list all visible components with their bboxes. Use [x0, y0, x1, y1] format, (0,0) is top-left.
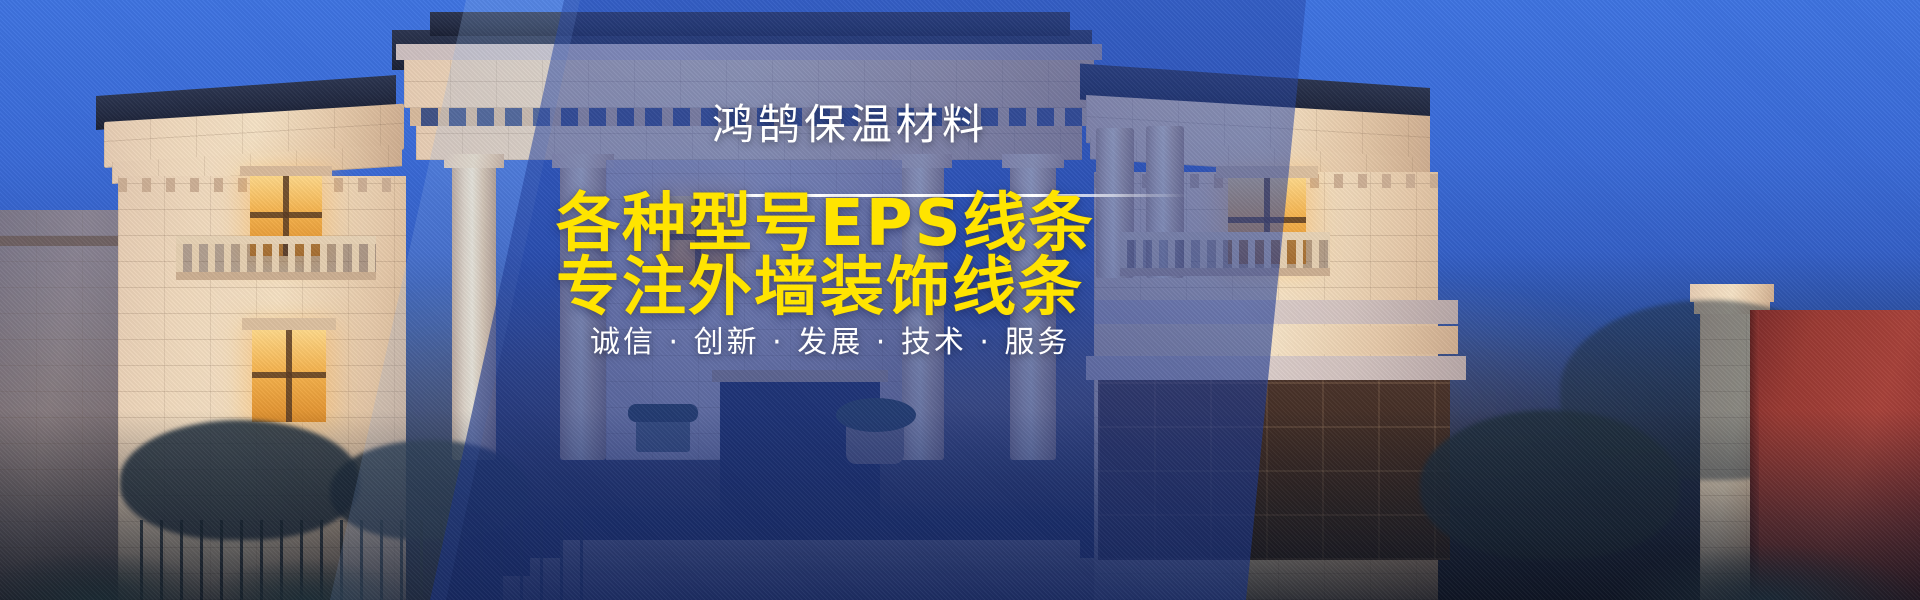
headline-line-2: 专注外墙装饰线条: [556, 256, 1084, 320]
brand-name: 鸿鹄保温材料: [712, 104, 988, 146]
left-far-cornice: [0, 236, 130, 246]
window-left-lower-lintel: [242, 318, 336, 330]
tagline: 诚信 · 创新 · 发展 · 技术 · 服务: [590, 328, 1070, 358]
balcony-rail-base-left: [176, 272, 376, 280]
balcony-rail-top-left: [176, 236, 376, 244]
hero-banner: 鸿鹄保温材料 各种型号EPS线条 专注外墙装饰线条 诚信 · 创新 · 发展 ·…: [0, 0, 1920, 600]
balusters-left: [176, 244, 376, 272]
window-left-upper-lintel: [240, 166, 332, 176]
headline-line-1: 各种型号EPS线条: [556, 192, 1095, 256]
window-left-lower: [252, 330, 326, 422]
